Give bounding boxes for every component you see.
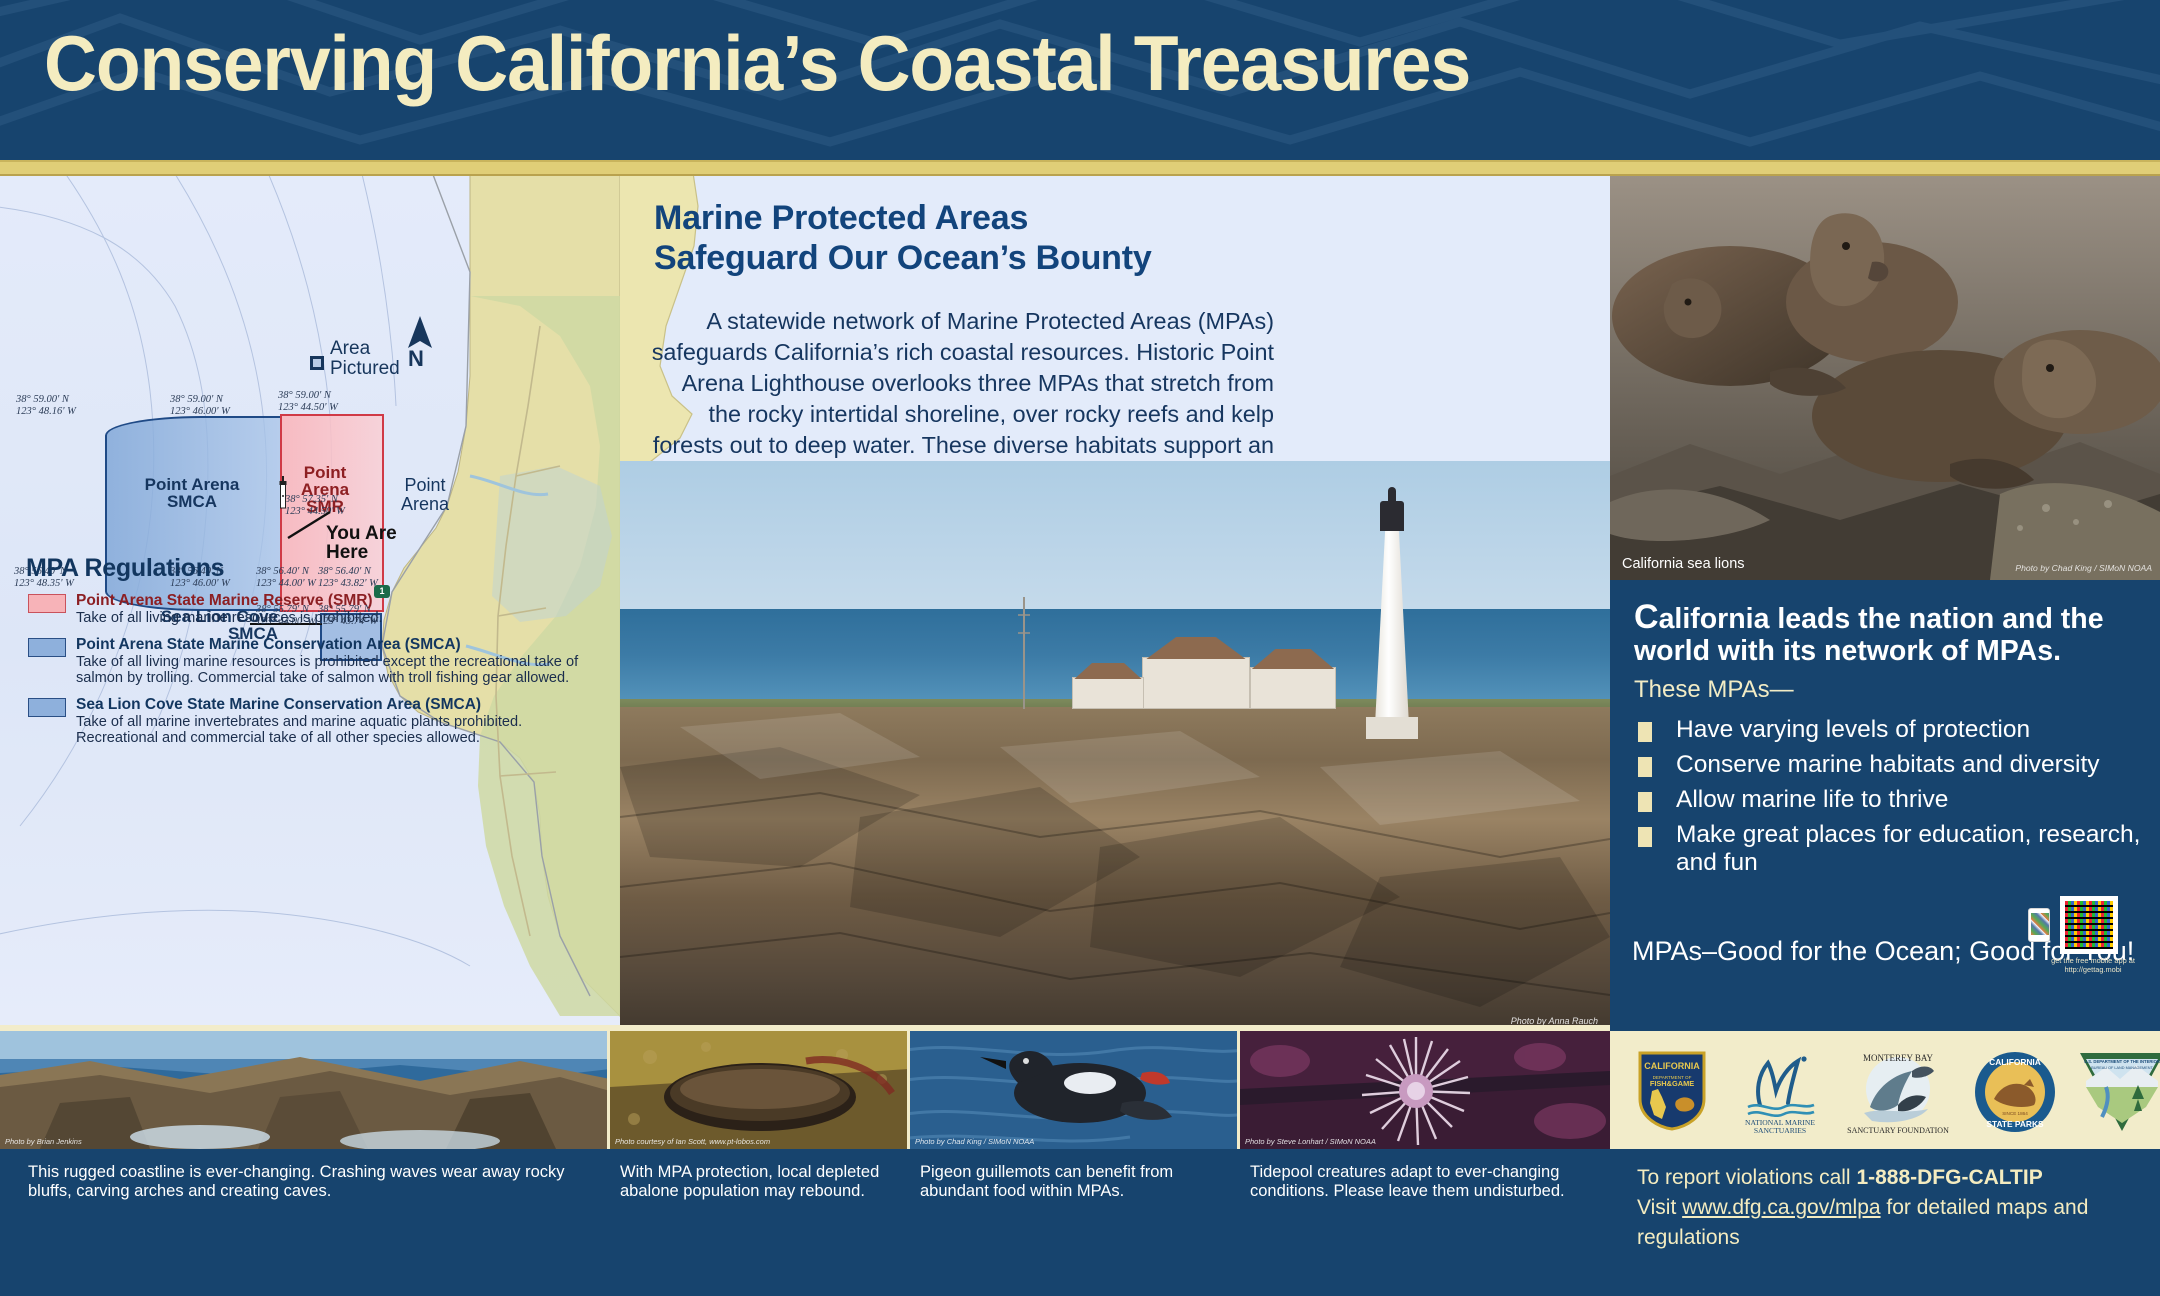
sea-lions-illustration [1610, 176, 2160, 580]
gold-divider-rule [0, 160, 2160, 176]
mlpa-website-link[interactable]: www.dfg.ca.gov/mlpa [1682, 1196, 1880, 1219]
list-item: Allow marine life to thrive [1634, 786, 2150, 814]
coordinate-label: 38° 59.00' N123° 48.16' W [16, 394, 76, 418]
lighthouse-marker-icon [276, 476, 290, 510]
list-item-label: Make great places for education, researc… [1676, 821, 2140, 876]
legend-item[interactable]: Point Arena State Marine Reserve (SMR) T… [26, 592, 606, 627]
microsoft-tag-qr-code[interactable] [2060, 896, 2118, 954]
sea-lions-photo-caption: California sea lions [1622, 556, 1745, 572]
abalone-illustration [610, 1031, 910, 1149]
compass-label: N [408, 346, 424, 372]
keeper-house-mid [1250, 667, 1336, 709]
mpa-regulations-legend: MPA Regulations Point Arena State Marine… [26, 554, 606, 756]
svg-text:SANCTUARIES: SANCTUARIES [1754, 1126, 1806, 1133]
legend-swatch-slc-smca [28, 698, 66, 717]
square-bullet-icon [1638, 722, 1652, 742]
legend-swatch-smr [28, 594, 66, 613]
right-panel-heading: California leads the nation and the worl… [1634, 598, 2146, 668]
sea-lions-photo-credit: Photo by Chad King / SIMoN NOAA [2015, 563, 2152, 573]
poster-footer: This rugged coastline is ever-changing. … [0, 1149, 2160, 1296]
you-are-here-leader-line [286, 506, 332, 540]
mpa-benefits-list: Have varying levels of protection Conser… [1634, 716, 2150, 884]
photo-credit: Photo by Chad King / SIMoN NOAA [915, 1137, 1034, 1146]
visit-prefix: Visit [1637, 1196, 1682, 1219]
national-marine-sanctuaries-logo: NATIONAL MARINE SANCTUARIES [1732, 1049, 1828, 1133]
blm-logo: U.S. DEPARTMENT OF THE INTERIOR BUREAU O… [2076, 1049, 2160, 1135]
svg-text:SANCTUARY FOUNDATION: SANCTUARY FOUNDATION [1847, 1126, 1949, 1135]
sea-urchin-illustration [1240, 1031, 1610, 1149]
photo-pigeon-guillemot: Photo by Chad King / SIMoN NOAA [910, 1031, 1240, 1149]
report-prefix: To report violations call [1637, 1166, 1856, 1189]
legend-item-body: Take of all marine invertebrates and mar… [76, 714, 606, 747]
list-item-label: Conserve marine habitats and diversity [1676, 751, 2100, 778]
photo-abalone: Photo courtesy of Ian Scott, www.pt-lobo… [610, 1031, 910, 1149]
photo-caption: Tidepool creatures adapt to ever-changin… [1250, 1163, 1600, 1202]
photo-credit: Photo courtesy of Ian Scott, www.pt-lobo… [615, 1137, 770, 1146]
antenna-mast [1016, 597, 1032, 709]
legend-heading: MPA Regulations [26, 554, 606, 583]
area-pictured-box-icon [310, 356, 324, 370]
svg-text:U.S. DEPARTMENT OF THE INTERIO: U.S. DEPARTMENT OF THE INTERIOR [2084, 1059, 2160, 1064]
legend-item[interactable]: Sea Lion Cove State Marine Conservation … [26, 696, 606, 747]
legend-item-body: Take of all living marine resources is p… [76, 654, 606, 687]
monterey-bay-sanctuary-foundation-logo: MONTEREY BAY SANCTUARY FOUNDATION [1842, 1049, 1960, 1135]
map-label-point-arena-smca: Point Arena SMCA [112, 476, 272, 510]
heading-dropcap: C [1634, 598, 1659, 636]
center-heading: Marine Protected Areas Safeguard Our Oce… [654, 198, 1152, 278]
qr-code-pattern [2065, 901, 2113, 949]
photo-credit: Photo by Steve Lonhart / SIMoN NOAA [1245, 1137, 1376, 1146]
report-violations-line: To report violations call 1-888-DFG-CALT… [1637, 1163, 2149, 1193]
outbuilding-left [1072, 677, 1144, 709]
partner-logos-band: CALIFORNIA DEPARTMENT OF FISH&GAME NATIO… [1610, 1031, 2160, 1149]
sea-lions-photo: California sea lions Photo by Chad King … [1610, 176, 2160, 580]
photo-caption: With MPA protection, local depleted abal… [620, 1163, 900, 1202]
page-title: Conserving California’s Coastal Treasure… [44, 18, 1470, 109]
caltip-phone-number[interactable]: 1-888-DFG-CALTIP [1856, 1166, 2042, 1189]
heading-rest: alifornia leads the nation and the world… [1634, 603, 2104, 667]
legend-item-title: Point Arena State Marine Conservation Ar… [76, 636, 606, 653]
bottom-photo-strip: Photo by Brian Jenkins Photo courtesy of… [0, 1031, 1610, 1149]
svg-text:MONTEREY BAY: MONTEREY BAY [1863, 1053, 1934, 1063]
coastline-illustration [0, 1031, 610, 1149]
legend-swatch-pa-smca [28, 638, 66, 657]
california-fish-and-game-logo: CALIFORNIA DEPARTMENT OF FISH&GAME [1636, 1049, 1708, 1133]
keeper-house-left [1142, 657, 1250, 709]
photo-coastline: Photo by Brian Jenkins [0, 1031, 610, 1149]
photo-credit: Photo by Brian Jenkins [5, 1137, 82, 1146]
photo-caption: Pigeon guillemots can benefit from abund… [920, 1163, 1220, 1202]
photo-caption: This rugged coastline is ever-changing. … [28, 1163, 588, 1202]
right-panel: California sea lions Photo by Chad King … [1610, 176, 2160, 1031]
square-bullet-icon [1638, 792, 1652, 812]
map-panel[interactable]: Point Arena SMCA Point Arena SMR Sea Lio… [0, 176, 620, 1031]
qr-caption: get the free mobile app at http://gettag… [2036, 956, 2150, 975]
list-item: Conserve marine habitats and diversity [1634, 751, 2150, 779]
right-panel-subheading: These MPAs— [1634, 676, 1794, 704]
visit-website-line: Visit www.dfg.ca.gov/mlpa for detailed m… [1637, 1193, 2149, 1253]
svg-text:FISH&GAME: FISH&GAME [1650, 1079, 1694, 1088]
photo-tidepool-urchin: Photo by Steve Lonhart / SIMoN NOAA [1240, 1031, 1610, 1149]
svg-text:BUREAU OF LAND MANAGEMENT: BUREAU OF LAND MANAGEMENT [2091, 1066, 2153, 1070]
legend-item[interactable]: Point Arena State Marine Conservation Ar… [26, 636, 606, 687]
svg-text:CALIFORNIA: CALIFORNIA [1989, 1057, 2041, 1067]
svg-text:CALIFORNIA: CALIFORNIA [1644, 1061, 1700, 1071]
list-item: Have varying levels of protection [1634, 716, 2150, 744]
legend-item-title: Sea Lion Cove State Marine Conservation … [76, 696, 606, 713]
footer-contact-block: To report violations call 1-888-DFG-CALT… [1637, 1163, 2149, 1252]
square-bullet-icon [1638, 757, 1652, 777]
area-pictured-label: Area Pictured [330, 339, 400, 379]
legend-item-title: Point Arena State Marine Reserve (SMR) [76, 592, 606, 609]
point-arena-lighthouse-photo: Photo by Anna Rauch [620, 461, 1610, 1031]
list-item-label: Have varying levels of protection [1676, 716, 2030, 743]
center-panel: Marine Protected Areas Safeguard Our Oce… [620, 176, 1610, 1031]
svg-text:SINCE 1864: SINCE 1864 [2002, 1111, 2028, 1116]
cliff-strata-detail [620, 707, 1610, 1031]
square-bullet-icon [1638, 827, 1652, 847]
lighthouse-base [1366, 717, 1418, 739]
list-item: Make great places for education, researc… [1634, 821, 2150, 877]
list-item-label: Allow marine life to thrive [1676, 786, 1948, 813]
phone-screen-tag [2031, 913, 2049, 935]
california-state-parks-logo: CALIFORNIA STATE PARKS SINCE 1864 [1972, 1049, 2058, 1135]
legend-item-body: Take of all living marine resources is p… [76, 610, 606, 626]
svg-text:STATE PARKS: STATE PARKS [1986, 1119, 2044, 1129]
lighthouse-lantern-room [1380, 501, 1404, 531]
pigeon-guillemot-illustration [910, 1031, 1240, 1149]
lighthouse-finial [1388, 487, 1396, 503]
poster-root: Conserving California’s Coastal Treasure… [0, 0, 2160, 1296]
phone-icon [2028, 908, 2050, 942]
poster-header: Conserving California’s Coastal Treasure… [0, 0, 2160, 160]
map-town-label-point-arena: Point Arena [388, 476, 462, 514]
coordinate-label: 38° 59.00' N123° 46.00' W [170, 394, 230, 418]
coordinate-label: 38° 59.00' N123° 44.50' W [278, 390, 338, 414]
